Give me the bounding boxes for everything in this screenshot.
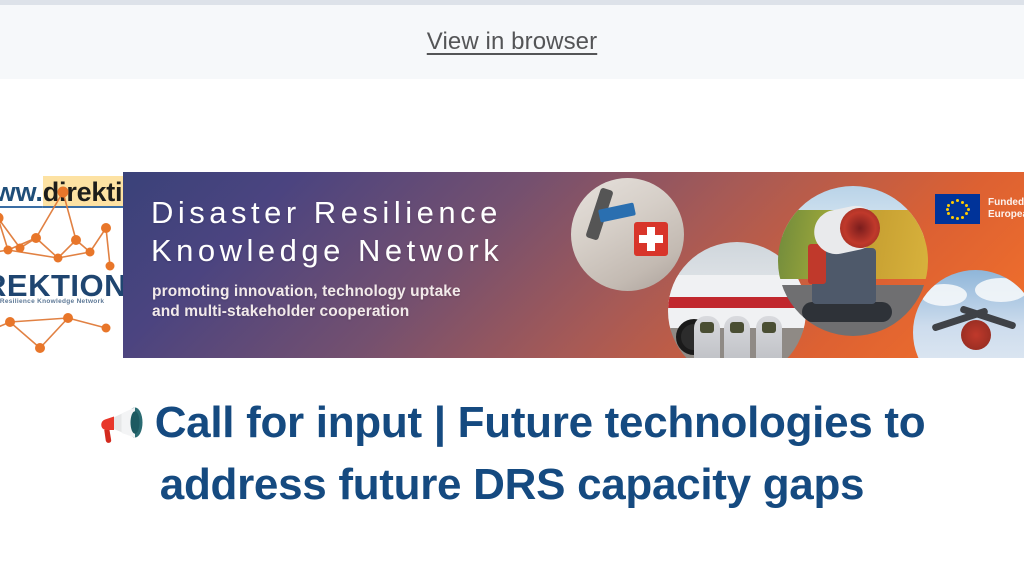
banner-tagline-line2: and multi-stakeholder cooperation — [152, 302, 461, 322]
logo-subtitle: Disaster Resilience Knowledge Network — [0, 298, 122, 305]
banner-title: Disaster Resilience Knowledge Network — [151, 194, 503, 270]
email-newsletter-page: View in browser www.direktion-network.or… — [0, 0, 1024, 576]
headline-line1: Call for input | Future technologies to — [0, 392, 1024, 454]
header-row: www.direktion-network.org January 202 — [0, 79, 1024, 157]
preheader-bar: View in browser — [0, 5, 1024, 79]
banner-tagline: promoting innovation, technology uptake … — [152, 282, 461, 322]
network-nodes-icon — [0, 170, 123, 360]
banner-title-line2: Knowledge Network — [151, 232, 503, 270]
view-in-browser-link[interactable]: View in browser — [427, 28, 597, 56]
firefighting-turbine-photo — [778, 186, 928, 336]
megaphone-icon — [99, 402, 147, 446]
eu-flag-icon — [935, 194, 980, 224]
banner-title-line1: Disaster Resilience — [151, 194, 503, 232]
eu-funding-line2: European Union — [988, 209, 1024, 221]
headline-block: Call for input | Future technologies to … — [0, 392, 1024, 516]
eu-funding-badge: Funded by European Union — [935, 194, 1024, 224]
banner-tagline-line1: promoting innovation, technology uptake — [152, 282, 461, 302]
drone-photo — [913, 270, 1024, 358]
eu-funding-text: Funded by European Union — [988, 197, 1024, 221]
direktion-logo[interactable]: DIREKTION Disaster Resilience Knowledge … — [0, 170, 123, 360]
eu-funding-line1: Funded by — [988, 197, 1024, 209]
headline-line2: address future DRS capacity gaps — [0, 454, 1024, 516]
headline-text-line1: Call for input | Future technologies to — [155, 398, 926, 447]
red-cross-icon — [634, 222, 668, 256]
newsletter-banner[interactable]: Disaster Resilience Knowledge Network pr… — [123, 172, 1024, 358]
